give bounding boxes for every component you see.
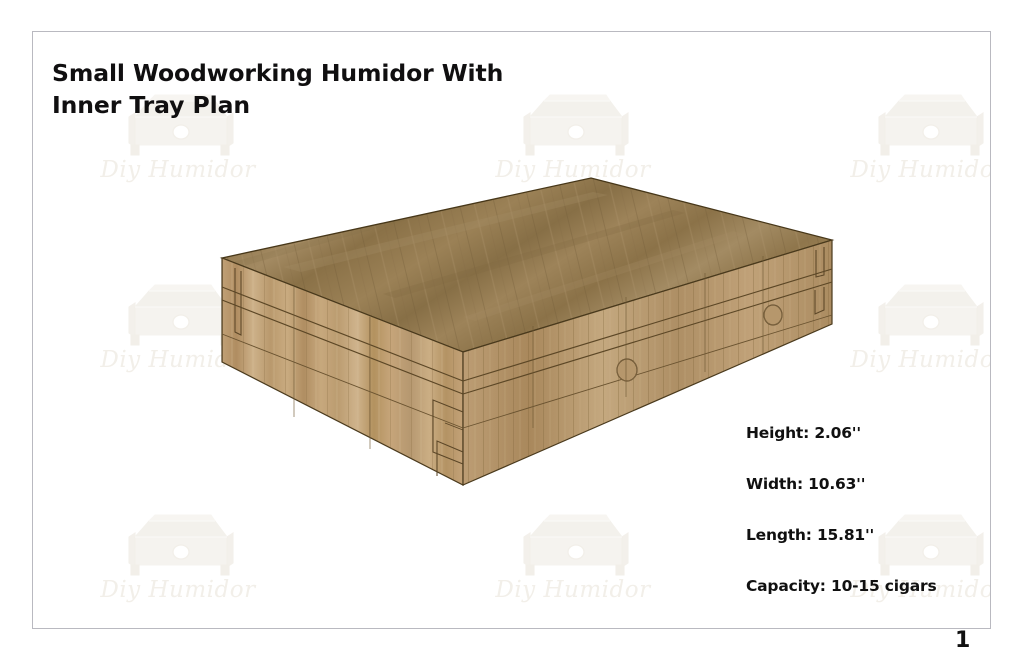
- spec-length: Length: 15.81'': [746, 526, 937, 544]
- spec-width: Width: 10.63'': [746, 475, 937, 493]
- knob-front: [617, 359, 637, 381]
- page-title: Small Woodworking Humidor With Inner Tra…: [52, 57, 572, 121]
- spec-capacity: Capacity: 10-15 cigars: [746, 577, 937, 595]
- spec-height: Height: 2.06'': [746, 424, 937, 442]
- document-page-frame: Diy Humidor Diy Humidor: [32, 31, 991, 629]
- knob-right: [764, 305, 782, 325]
- specifications-block: Height: 2.06'' Width: 10.63'' Length: 15…: [746, 424, 937, 595]
- page-number: 1: [955, 628, 970, 653]
